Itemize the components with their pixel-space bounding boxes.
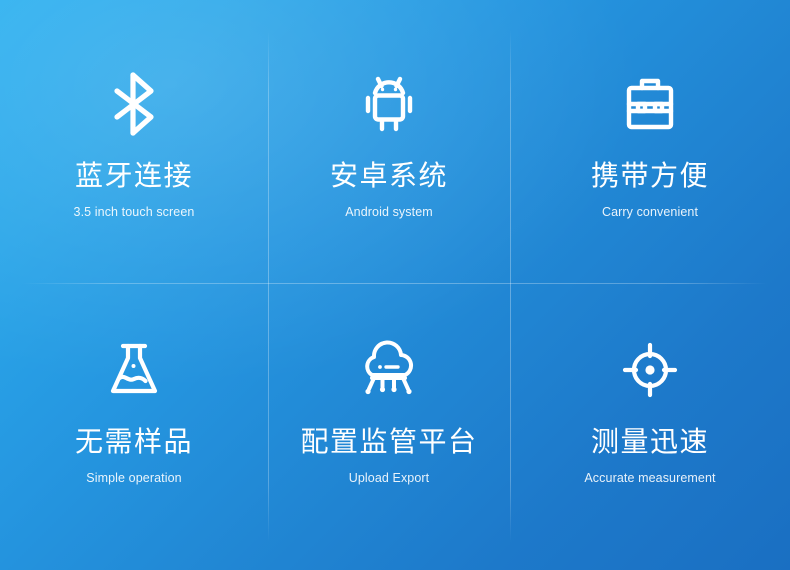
feature-title: 携带方便 xyxy=(591,162,709,190)
crosshair-target-icon xyxy=(618,338,682,402)
flask-icon xyxy=(102,338,166,402)
feature-subtitle: Accurate measurement xyxy=(584,472,715,485)
feature-grid-panel: 蓝牙连接 3.5 inch touch screen xyxy=(0,0,790,570)
feature-cell-android: 安卓系统 Android system xyxy=(268,0,510,283)
feature-title: 配置监管平台 xyxy=(300,428,477,456)
feature-cell-briefcase: 携带方便 Carry convenient xyxy=(510,0,790,283)
feature-title: 蓝牙连接 xyxy=(75,162,193,190)
feature-cell-cloud-platform: 配置监管平台 Upload Export xyxy=(268,283,510,570)
feature-cell-bluetooth: 蓝牙连接 3.5 inch touch screen xyxy=(0,0,268,283)
feature-subtitle: Upload Export xyxy=(349,472,430,485)
cloud-network-icon xyxy=(357,338,421,402)
feature-title: 无需样品 xyxy=(75,428,193,456)
feature-title: 安卓系统 xyxy=(330,162,448,190)
feature-subtitle: 3.5 inch touch screen xyxy=(74,206,195,219)
feature-subtitle: Simple operation xyxy=(86,472,181,485)
feature-title: 测量迅速 xyxy=(591,428,709,456)
feature-cell-flask: 无需样品 Simple operation xyxy=(0,283,268,570)
feature-subtitle: Carry convenient xyxy=(602,206,698,219)
android-robot-icon xyxy=(357,72,421,136)
bluetooth-icon xyxy=(102,72,166,136)
feature-grid: 蓝牙连接 3.5 inch touch screen xyxy=(0,0,790,570)
briefcase-icon xyxy=(618,72,682,136)
feature-subtitle: Android system xyxy=(345,206,433,219)
feature-cell-measurement: 测量迅速 Accurate measurement xyxy=(510,283,790,570)
